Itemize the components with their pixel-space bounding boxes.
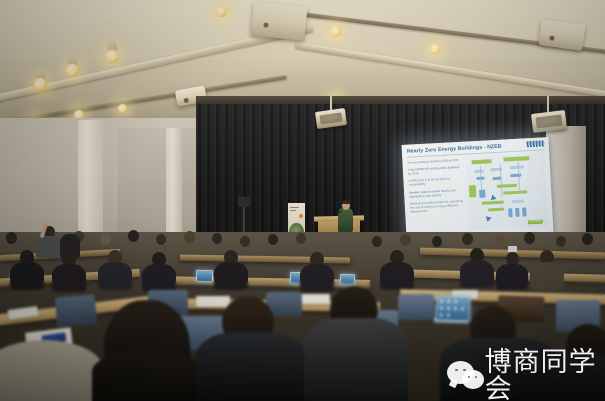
- attendee-head: [582, 233, 593, 245]
- diagram-node-green: [503, 156, 529, 161]
- projection-screen: Nearly Zero Energy Buildings - NZEB All …: [402, 137, 554, 240]
- diagram-node-blue: [515, 207, 519, 216]
- attendee-head: [240, 236, 250, 247]
- attendee-head: [156, 234, 166, 245]
- attendee-foreground-body: [92, 352, 204, 401]
- attendee-torso: [496, 264, 528, 290]
- slide-body: All new buildings shall be nZEB by 2021 …: [407, 152, 548, 233]
- attendee-foreground-sweater: [304, 318, 408, 401]
- attendee-head: [128, 230, 139, 242]
- slide-bullet: All new buildings shall be nZEB by 2021: [407, 157, 462, 164]
- light-bulb: [66, 64, 79, 77]
- attendee-head: [6, 232, 17, 244]
- attendee-head: [296, 233, 306, 244]
- diagram-node-light: [511, 199, 523, 203]
- attendee-torso: [380, 262, 414, 290]
- banner-text-line: [290, 207, 299, 208]
- attendee-head: [400, 234, 411, 246]
- paper-handout: [300, 294, 330, 304]
- light-bulb: [106, 50, 119, 63]
- attendee-torso: [300, 264, 334, 292]
- attendee-torso: [530, 262, 564, 290]
- diagram-node-blue: [508, 208, 512, 217]
- slide-bullet: Under EPBD all existing public buildings…: [408, 164, 463, 175]
- attendee-foreground-body: [548, 354, 605, 401]
- slide-bullet: National cost-optimal plans for calculat…: [410, 199, 465, 215]
- light-bulb: [34, 78, 47, 91]
- presenter-hair: [342, 200, 350, 204]
- diagram-node-blue: [510, 173, 521, 177]
- banner-accent-dot: [299, 214, 303, 218]
- light-bulb: [430, 44, 440, 54]
- attendee-torso: [142, 264, 176, 292]
- diagram-arrow: [486, 214, 493, 221]
- attendee-head: [372, 236, 382, 247]
- slide-logo-icon: [527, 140, 545, 147]
- paper-handout: [196, 296, 230, 307]
- diagram-node-green: [471, 159, 491, 164]
- laptop-screen[interactable]: [436, 295, 471, 321]
- attendee-foreground-suit: [440, 338, 558, 401]
- attendee-head: [432, 236, 442, 247]
- slide-diagram: Net nZEB: [465, 152, 548, 230]
- laptop-screen[interactable]: [196, 270, 213, 283]
- attendee-head: [494, 235, 504, 246]
- structural-column-secondary: [166, 128, 182, 246]
- presentation-slide: Nearly Zero Energy Buildings - NZEB All …: [402, 137, 554, 240]
- attendee-torso: [52, 264, 86, 292]
- attendee-torso: [214, 262, 248, 290]
- diagram-node-green: [469, 185, 477, 197]
- light-bulb: [118, 104, 127, 113]
- slide-bullet: Member states to define Nearly Zero stan…: [409, 187, 464, 198]
- smartphone[interactable]: [508, 246, 517, 252]
- light-bulb: [216, 6, 227, 17]
- attendee-foreground-suit: [196, 332, 306, 401]
- ceiling-projector: [250, 1, 307, 40]
- laptop-screen[interactable]: [340, 274, 355, 286]
- attendee-head: [462, 233, 473, 245]
- attendee-head: [556, 236, 566, 247]
- chair: [398, 294, 434, 320]
- banner-text-line: [290, 210, 296, 211]
- attendee-head: [268, 234, 278, 245]
- attendee-head: [524, 232, 535, 244]
- attendee-foreground-coat: [0, 340, 104, 401]
- attendee-head: [184, 231, 195, 243]
- slide-bullet: nZEB's goal is to be the basis for susta…: [408, 176, 463, 187]
- diagram-arrow: [491, 194, 497, 201]
- attendee-head: [100, 233, 111, 245]
- diagram-node-blue: [522, 207, 526, 216]
- diagram-node-green: [503, 190, 527, 194]
- light-bulb: [330, 26, 341, 37]
- attendee-torso: [10, 262, 44, 290]
- slide-bullet-list: All new buildings shall be nZEB by 2021 …: [407, 156, 466, 233]
- attendee-torso: [98, 262, 132, 290]
- conference-hall-photo: Nearly Zero Energy Buildings - NZEB All …: [0, 0, 605, 401]
- chair: [55, 294, 97, 327]
- attendee-head: [212, 233, 222, 244]
- diagram-footer-badge: Net nZEB: [528, 219, 543, 224]
- diagram-node-green: [488, 207, 504, 211]
- attendee-torso: [460, 260, 494, 288]
